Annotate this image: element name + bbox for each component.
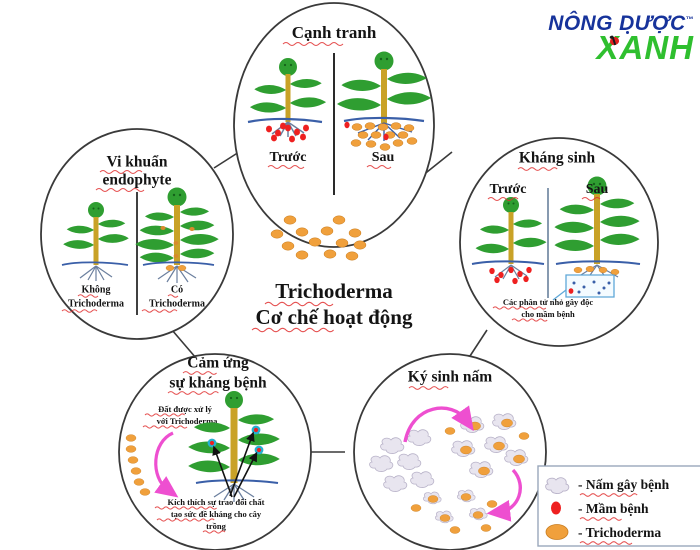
center-subtitle: Cơ chế hoạt động <box>256 305 413 329</box>
caption-camung-3: trồng <box>206 521 227 531</box>
infographic-canvas: NÔNG DƯỢC™ XANH <box>0 0 700 550</box>
caption-camung-1: Kích thích sự trao đổi chất <box>168 497 265 507</box>
label-sau: Sau <box>372 150 395 165</box>
node-canh-tranh-title: Cạnh tranh <box>292 23 377 42</box>
center-title: Trichoderma <box>275 279 393 303</box>
caption-camung-2: tạo sức đề kháng cho cây <box>171 509 262 519</box>
legend-label-1: - Mầm bệnh <box>578 501 649 516</box>
legend-label-2: - Trichoderma <box>578 525 661 540</box>
node-kysinh-title: Ký sinh nấm <box>408 369 493 386</box>
pathogen-spore-icon <box>551 502 561 515</box>
mechanism-diagram: Cạnh tranh <box>0 0 700 550</box>
label-co-1: Có <box>171 284 183 295</box>
caption-khangsinh-2: cho mầm bệnh <box>521 309 575 319</box>
label-truoc: Trước <box>490 182 527 197</box>
note-camung-1: Đất được xử lý <box>158 404 213 414</box>
trichoderma-spore-icon <box>546 525 568 540</box>
node-ky-sinh-nam[interactable]: Ký sinh nấm <box>354 354 546 550</box>
label-truoc: Trước <box>270 150 307 165</box>
node-vi-khuan-endophyte[interactable]: Vi khuẩn endophyte <box>41 129 233 339</box>
legend: - Nấm gây bệnh - Mầm bệnh - Trichoderma <box>538 466 700 546</box>
label-co-2: Trichoderma <box>149 298 205 309</box>
node-canh-tranh[interactable]: Cạnh tranh <box>234 3 434 247</box>
node-cam-ung-su-khang-benh[interactable]: Cảm ứng sự kháng bệnh Đất được xử lý với… <box>119 354 311 550</box>
legend-label-0: - Nấm gây bệnh <box>578 477 670 492</box>
node-khang-sinh[interactable]: Kháng sinh <box>460 138 658 346</box>
node-endophyte-title-1: Vi khuẩn <box>106 154 167 171</box>
node-khangsinh-title: Kháng sinh <box>519 150 596 167</box>
node-camung-title-1: Cảm ứng <box>187 355 249 372</box>
node-endophyte-title-2: endophyte <box>103 172 172 189</box>
node-camung-title-2: sự kháng bệnh <box>169 375 267 392</box>
caption-khangsinh-1: Các phân tử nhỏ gây độc <box>503 297 594 307</box>
label-khong-1: Không <box>82 284 111 295</box>
label-khong-2: Trichoderma <box>68 298 124 309</box>
label-sau: Sau <box>586 182 609 197</box>
